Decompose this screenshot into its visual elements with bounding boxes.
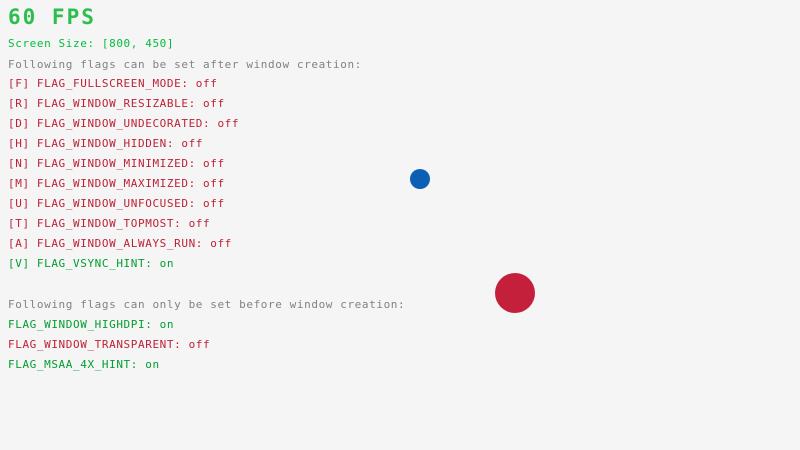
maroon-circle-shape xyxy=(495,273,535,313)
flag-row-window-hidden[interactable]: [H] FLAG_WINDOW_HIDDEN: off xyxy=(8,138,203,149)
flag-row-window-highdpi: FLAG_WINDOW_HIGHDPI: on xyxy=(8,319,174,330)
flag-row-window-undecorated[interactable]: [D] FLAG_WINDOW_UNDECORATED: off xyxy=(8,118,239,129)
flag-row-window-topmost[interactable]: [T] FLAG_WINDOW_TOPMOST: off xyxy=(8,218,210,229)
screen-size-label: Screen Size: [800, 450] xyxy=(8,38,174,49)
flag-row-msaa-4x-hint: FLAG_MSAA_4X_HINT: on xyxy=(8,359,160,370)
flag-row-window-always-run[interactable]: [A] FLAG_WINDOW_ALWAYS_RUN: off xyxy=(8,238,232,249)
after-creation-section-header: Following flags can be set after window … xyxy=(8,59,362,70)
flag-row-window-resizable[interactable]: [R] FLAG_WINDOW_RESIZABLE: off xyxy=(8,98,225,109)
flag-row-window-minimized[interactable]: [N] FLAG_WINDOW_MINIMIZED: off xyxy=(8,158,225,169)
flag-row-window-unfocused[interactable]: [U] FLAG_WINDOW_UNFOCUSED: off xyxy=(8,198,225,209)
raylib-window-canvas: 60 FPS Screen Size: [800, 450] Following… xyxy=(0,0,800,450)
flag-row-window-transparent: FLAG_WINDOW_TRANSPARENT: off xyxy=(8,339,210,350)
flag-row-fullscreen-mode[interactable]: [F] FLAG_FULLSCREEN_MODE: off xyxy=(8,78,217,89)
before-creation-section-header: Following flags can only be set before w… xyxy=(8,299,405,310)
fps-counter: 60 FPS xyxy=(8,7,96,28)
flag-row-window-maximized[interactable]: [M] FLAG_WINDOW_MAXIMIZED: off xyxy=(8,178,225,189)
flag-row-vsync-hint[interactable]: [V] FLAG_VSYNC_HINT: on xyxy=(8,258,174,269)
blue-circle-shape xyxy=(410,169,430,189)
